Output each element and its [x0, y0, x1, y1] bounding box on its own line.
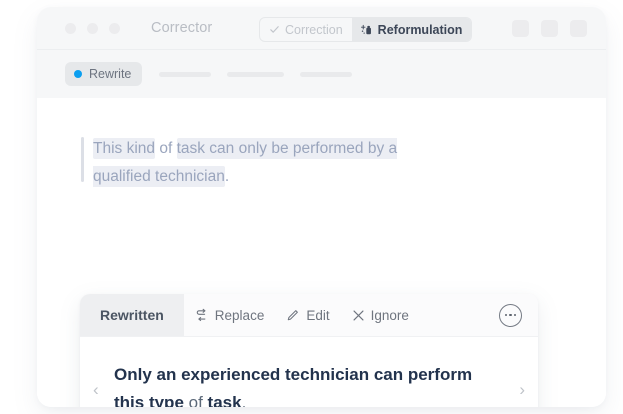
source-sentence[interactable]: This kind of task can only be performed …: [81, 135, 451, 191]
placeholder-bar: [159, 72, 211, 77]
suggestion-text: Only an experienced technician can perfo…: [114, 361, 504, 407]
pencil-icon: [286, 308, 300, 322]
suggestion-part: task: [208, 393, 242, 407]
placeholder-square[interactable]: [570, 20, 587, 37]
edit-label: Edit: [306, 308, 329, 323]
suggestion-part: .: [242, 393, 247, 407]
placeholder-bar: [300, 72, 352, 77]
next-suggestion-arrow[interactable]: ›: [519, 381, 525, 398]
close-x-icon: [352, 309, 365, 322]
placeholder-square[interactable]: [512, 20, 529, 37]
ellipsis-dot-icon: [505, 314, 508, 317]
tab-correction-label: Correction: [285, 23, 343, 37]
tab-correction[interactable]: Correction: [260, 18, 352, 41]
tab-rewritten-label: Rewritten: [100, 307, 164, 323]
tab-rewritten[interactable]: Rewritten: [80, 294, 184, 336]
replace-button[interactable]: Replace: [184, 294, 276, 336]
status-dot-icon: [74, 70, 82, 78]
mode-segmented-control: Correction Reformulation: [259, 17, 472, 42]
app-window: Corrector Correction: [37, 7, 606, 407]
ignore-label: Ignore: [371, 308, 409, 323]
ignore-button[interactable]: Ignore: [341, 294, 420, 336]
window-placeholder-squares: [512, 20, 587, 37]
swap-arrows-icon: [195, 308, 209, 322]
placeholder-square[interactable]: [541, 20, 558, 37]
suggestion-part: of: [184, 393, 208, 407]
rewrite-filter-chip[interactable]: Rewrite: [65, 62, 142, 86]
replace-label: Replace: [215, 308, 265, 323]
source-sentence-text: This kind of task can only be performed …: [93, 135, 451, 191]
rewrite-chip-label: Rewrite: [89, 67, 131, 81]
sentence-marker-bar: [81, 137, 84, 182]
placeholder-bar: [227, 72, 284, 77]
title-bar: Corrector Correction: [37, 7, 606, 49]
rewrite-wand-icon: [361, 24, 373, 36]
previous-suggestion-arrow[interactable]: ‹: [93, 381, 99, 398]
suggestion-part: Only an experienced technician can perfo…: [114, 365, 472, 407]
sentence-segment: This kind: [93, 138, 155, 159]
sentence-segment: of: [155, 140, 177, 157]
minimize-window-button[interactable]: [87, 23, 98, 34]
close-window-button[interactable]: [65, 23, 76, 34]
app-title: Corrector: [151, 20, 212, 36]
edit-button[interactable]: Edit: [275, 294, 340, 336]
tab-reformulation-label: Reformulation: [378, 23, 463, 37]
ellipsis-dot-icon: [509, 314, 512, 317]
check-icon: [269, 24, 280, 35]
toolbar-placeholder-bars: [159, 72, 352, 77]
traffic-lights: [65, 23, 120, 34]
suggestion-card-content: ‹ › Only an experienced technician can p…: [80, 337, 538, 407]
document-body: This kind of task can only be performed …: [37, 98, 606, 407]
maximize-window-button[interactable]: [109, 23, 120, 34]
sentence-segment: .: [225, 168, 229, 185]
sub-toolbar: Rewrite: [37, 49, 606, 98]
more-options-button[interactable]: [499, 304, 522, 327]
tab-reformulation[interactable]: Reformulation: [352, 18, 472, 41]
suggestion-card: Rewritten Replace: [80, 294, 538, 407]
ellipsis-dot-icon: [514, 314, 517, 317]
suggestion-card-toolbar: Rewritten Replace: [80, 294, 538, 337]
